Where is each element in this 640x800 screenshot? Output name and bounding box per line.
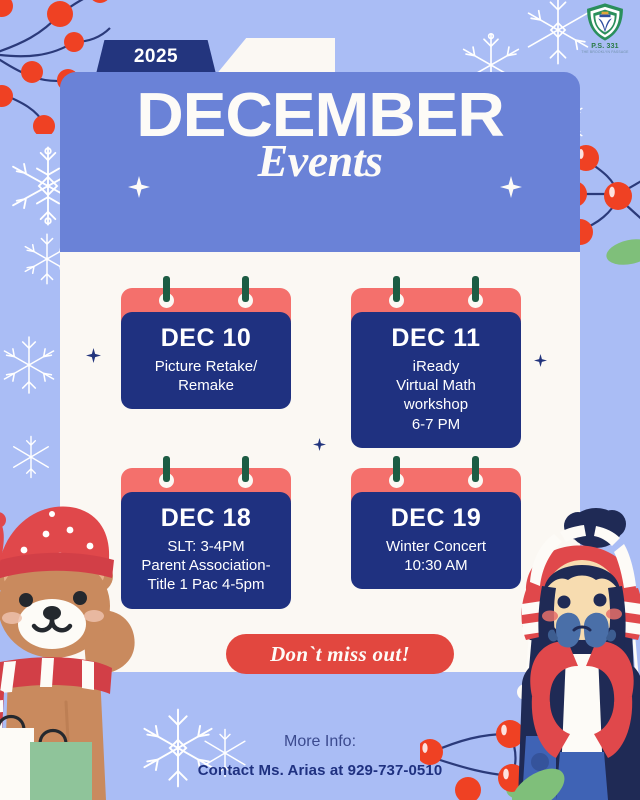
event-description-line: Parent Association- [129,556,283,575]
flyer-canvas: 2025 DECEMBER Events DEC 10 Picture Reta… [0,0,640,800]
event-description-line: Virtual Math [359,376,513,395]
sparkle-icon [500,176,522,203]
sparkle-icon [128,176,150,203]
event-description: iReadyVirtual Mathworkshop6-7 PM [359,357,513,434]
year-label: 2025 [134,46,178,68]
title-month: DECEMBER [44,86,595,146]
event-date: DEC 18 [129,504,283,533]
event-date: DEC 11 [359,324,513,353]
event-description: Picture Retake/Remake [129,357,283,395]
snowflake-icon [0,330,64,400]
event-card-body: DEC 19 Winter Concert10:30 AM [351,492,521,589]
event-description: Winter Concert10:30 AM [359,537,513,575]
event-description-line: Remake [129,376,283,395]
sparkle-icon [313,438,326,456]
snowflake-icon [4,430,58,484]
event-description-line: Picture Retake/ [129,357,283,376]
sparkle-icon [534,354,547,372]
event-card-body: DEC 18 SLT: 3-4PMParent Association-Titl… [121,492,291,609]
cta-banner[interactable]: Don`t miss out! [226,634,454,674]
event-card-body: DEC 10 Picture Retake/Remake [121,312,291,409]
sparkle-icon [86,348,101,368]
year-tab: 2025 [96,40,216,74]
event-description-line: SLT: 3-4PM [129,537,283,556]
event-card-body: DEC 11 iReadyVirtual Mathworkshop6-7 PM [351,312,521,448]
event-description-line: 6-7 PM [359,415,513,434]
event-description-line: iReady [359,357,513,376]
event-date: DEC 19 [359,504,513,533]
event-description: SLT: 3-4PMParent Association-Title 1 Pac… [129,537,283,595]
contact-info: Contact Ms. Arias at 929-737-0510 [0,762,640,779]
calendar-rings [121,284,291,310]
calendar-rings [351,464,521,490]
school-shield-logo: P.S. 331 THE BROOKLYN PASSAGE [576,2,634,58]
event-date: DEC 10 [129,324,283,353]
event-description-line: 10:30 AM [359,556,513,575]
page-title: DECEMBER Events [60,86,580,184]
more-info-label: More Info: [0,733,640,751]
event-description-line: Winter Concert [359,537,513,556]
logo-subtitle: THE BROOKLYN PASSAGE [576,50,634,54]
cta-label: Don`t miss out! [270,642,410,667]
event-description-line: Title 1 Pac 4-5pm [129,575,283,594]
event-description-line: workshop [359,395,513,414]
calendar-rings [121,464,291,490]
logo-school-name: P.S. 331 [576,43,634,50]
folder-flap [215,38,335,76]
calendar-rings [351,284,521,310]
